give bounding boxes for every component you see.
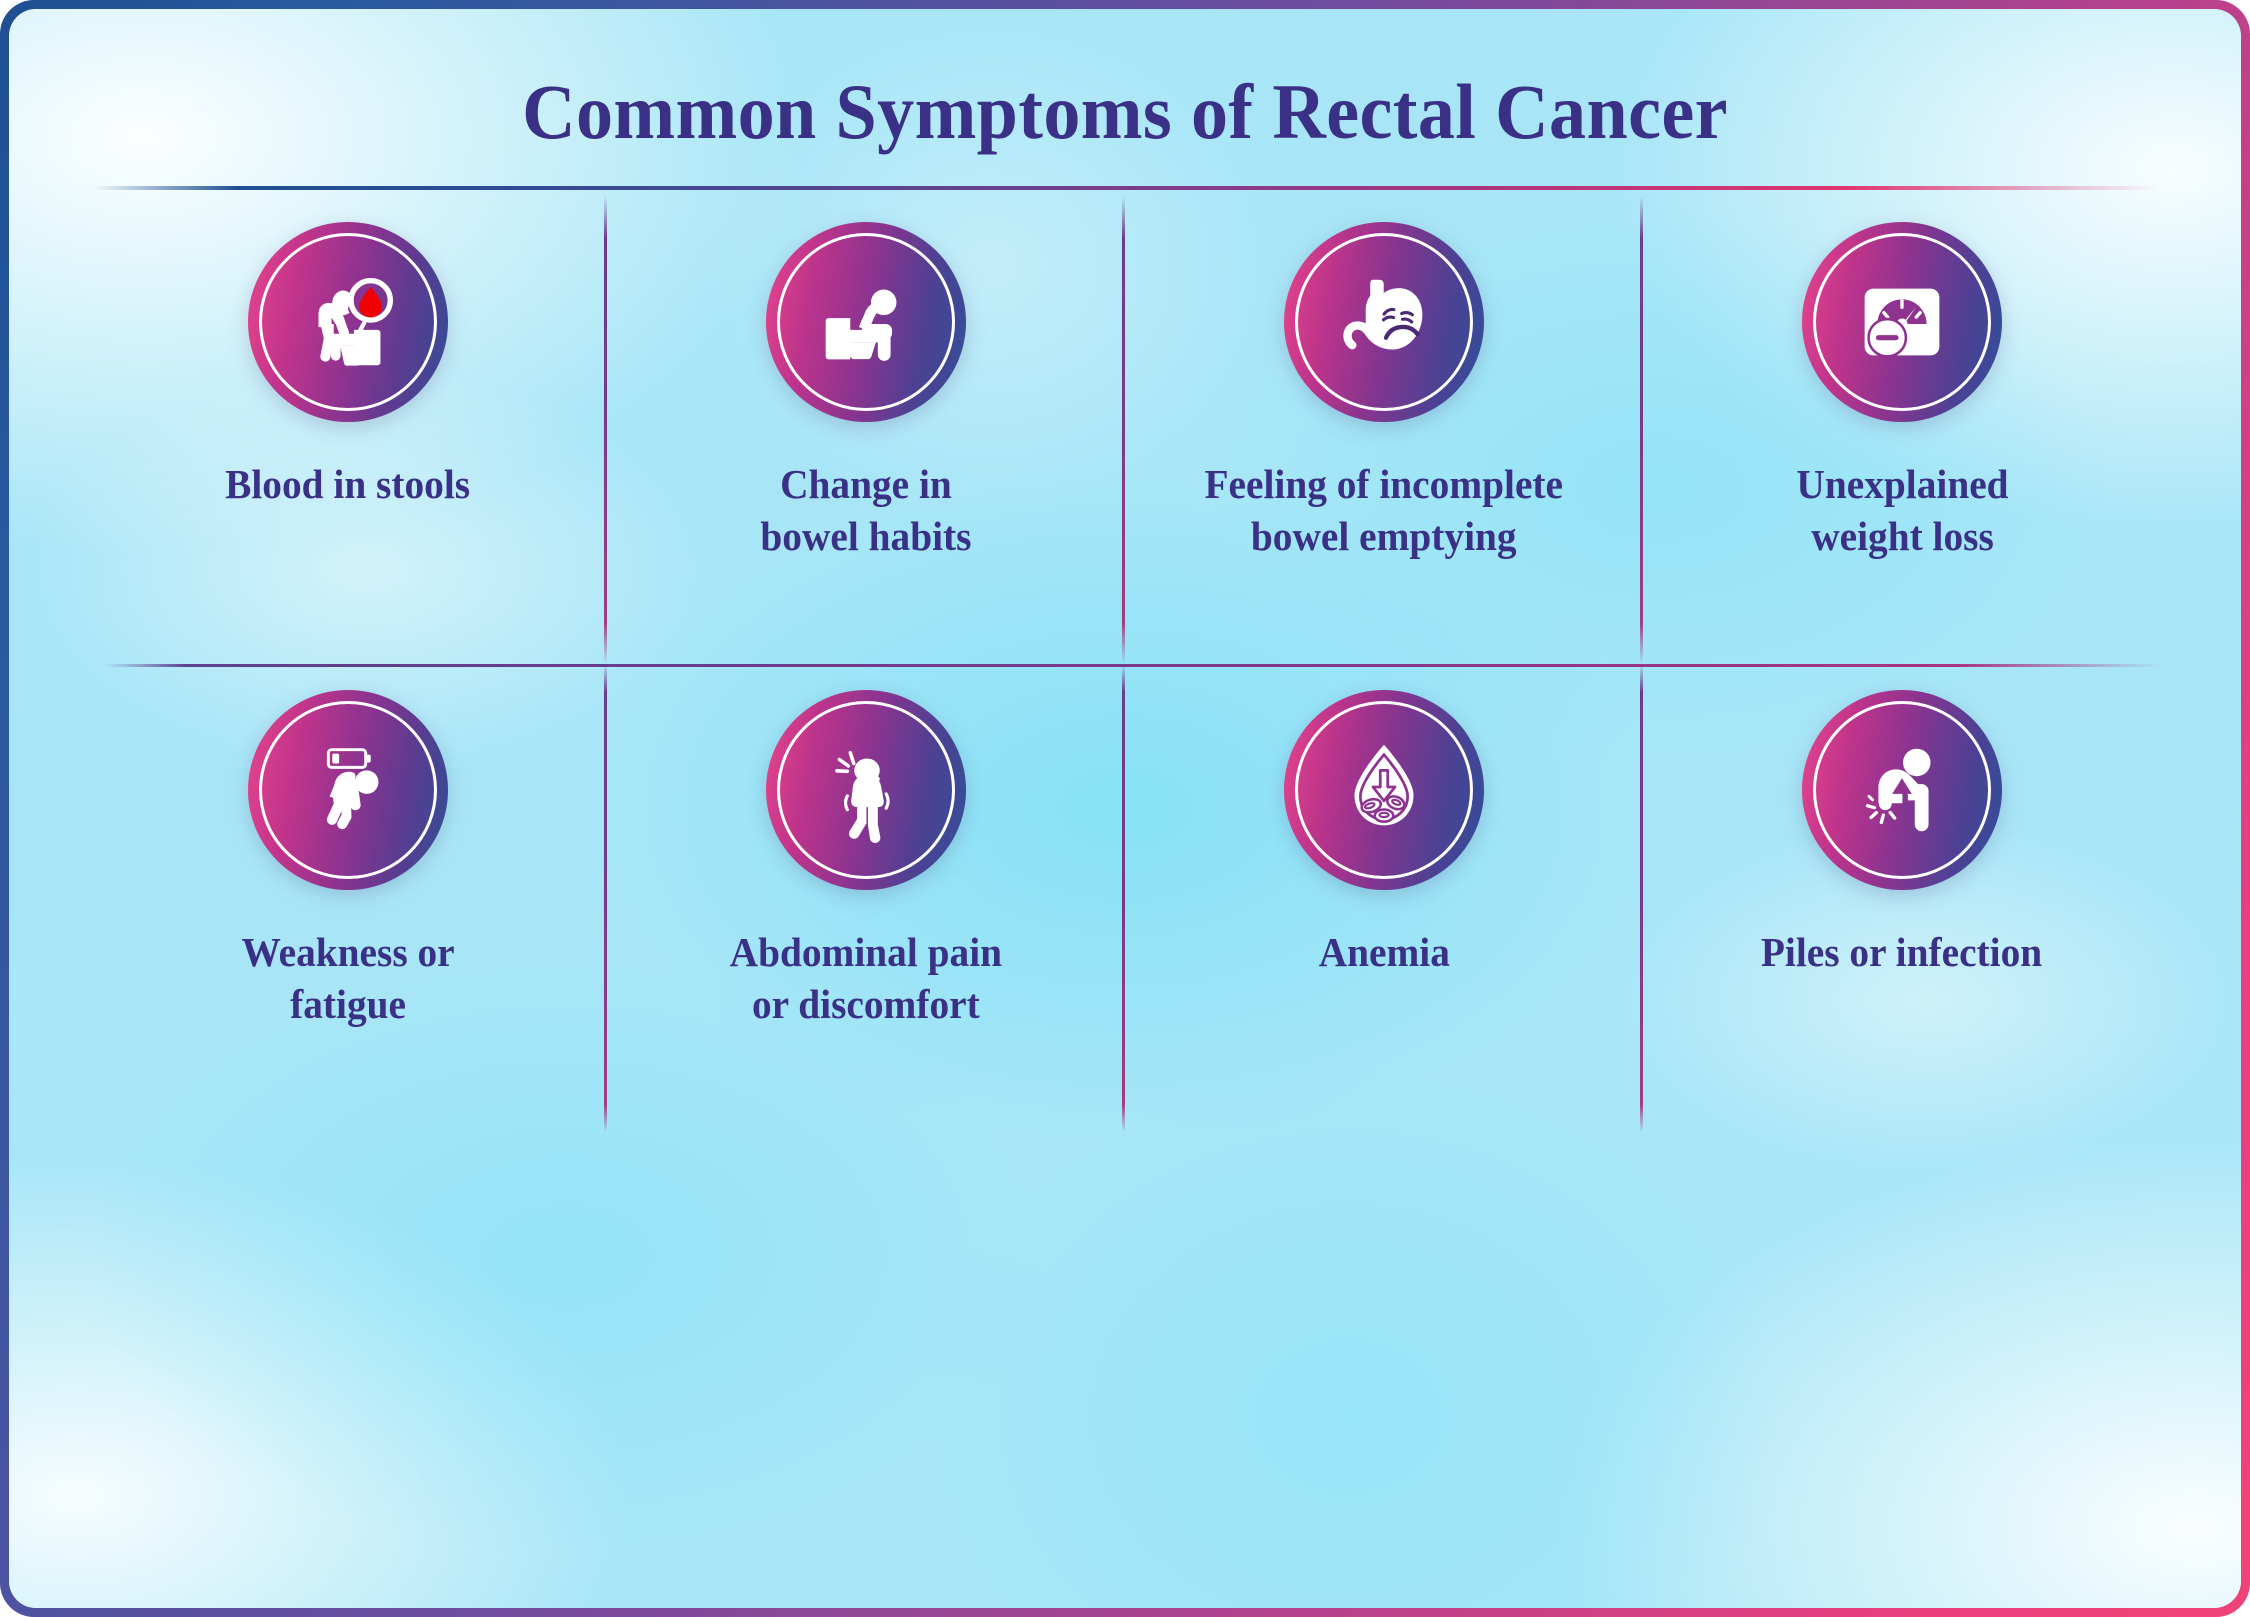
infographic-poster: Common Symptoms of Rectal Cancer — [0, 0, 2250, 1617]
row-divider-rule — [105, 664, 2163, 667]
icon-badge — [1284, 690, 1484, 890]
symptom-label: Change in bowel habits — [760, 458, 971, 563]
symptom-label: Anemia — [1318, 926, 1449, 978]
sad-stomach-icon — [1325, 263, 1443, 381]
symptom-cell-blood-in-stools[interactable]: Blood in stools — [89, 196, 607, 664]
symptom-label: Abdominal pain or discomfort — [730, 926, 1002, 1031]
icon-badge — [248, 222, 448, 422]
icon-badge — [248, 690, 448, 890]
person-vomiting-toilet-blood-drop-magnifier-icon — [289, 263, 407, 381]
person-sitting-on-toilet-icon — [807, 263, 925, 381]
symptom-cell-weakness-or-fatigue[interactable]: Weakness or fatigue — [89, 664, 607, 1132]
symptom-label: Feeling of incomplete bowel emptying — [1205, 458, 1564, 563]
symptom-label: Unexplained weight loss — [1796, 458, 2008, 563]
weight-scale-minus-icon — [1843, 263, 1961, 381]
icon-badge — [766, 690, 966, 890]
person-holding-abdomen-pain-icon — [807, 731, 925, 849]
icon-badge — [1802, 222, 2002, 422]
symptom-label: Piles or infection — [1761, 926, 2042, 978]
page-title: Common Symptoms of Rectal Cancer — [65, 71, 2185, 154]
symptom-cell-incomplete-bowel-emptying[interactable]: Feeling of incomplete bowel emptying — [1125, 196, 1643, 664]
title-divider-rule — [93, 186, 2158, 190]
blood-drop-down-arrow-cells-icon — [1325, 731, 1443, 849]
symptom-label: Weakness or fatigue — [241, 926, 454, 1031]
symptom-label: Blood in stools — [225, 458, 470, 510]
symptom-cell-abdominal-pain[interactable]: Abdominal pain or discomfort — [607, 664, 1125, 1132]
person-bent-over-rectal-pain-icon — [1843, 731, 1961, 849]
symptom-cell-anemia[interactable]: Anemia — [1125, 664, 1643, 1132]
poster-canvas: Common Symptoms of Rectal Cancer — [9, 9, 2241, 1608]
tired-person-low-battery-icon — [289, 731, 407, 849]
symptom-cell-unexplained-weight-loss[interactable]: Unexplained weight loss — [1643, 196, 2161, 664]
symptom-cell-piles-or-infection[interactable]: Piles or infection — [1643, 664, 2161, 1132]
symptom-cell-change-in-bowel-habits[interactable]: Change in bowel habits — [607, 196, 1125, 664]
icon-badge — [1284, 222, 1484, 422]
icon-badge — [766, 222, 966, 422]
icon-badge — [1802, 690, 2002, 890]
title-block: Common Symptoms of Rectal Cancer — [9, 9, 2241, 190]
